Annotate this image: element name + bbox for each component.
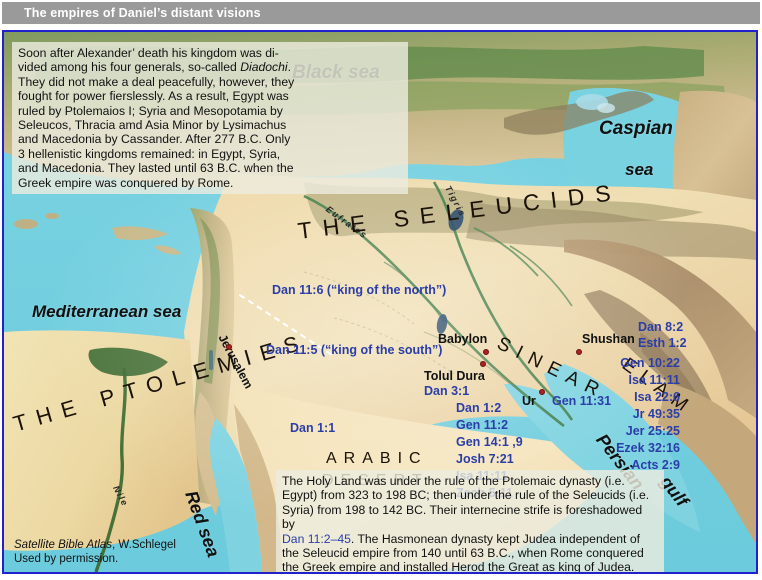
bottom-textbox-line-1: Egypt) from 323 to 198 BC; then under th… — [282, 488, 658, 502]
sea-label-mediterranean: Mediterranean sea — [32, 302, 181, 322]
place-dot-shushan — [576, 349, 582, 355]
verse-ezek-32-16: Ezek 32:16 — [616, 441, 680, 455]
place-label-ur: Ur — [522, 394, 536, 408]
top-textbox-line-4: ruled by Ptolemaios I; Syria and Mesopot… — [18, 104, 402, 118]
place-dot-babylon — [483, 349, 489, 355]
top-textbox-line-2: They did not make a deal peacefully, how… — [18, 75, 402, 89]
credit-author: , W.Schlegel — [112, 539, 176, 551]
top-textbox-line-8: and Macedonia. They lasted until 63 B.C.… — [18, 161, 402, 175]
region-label-arabic: ARABIC — [326, 450, 428, 468]
sea-label-caspian-line2: sea — [625, 160, 653, 180]
top-textbox-line-6: and Macedonia by Cassander. After 277 B.… — [18, 132, 402, 146]
verse-jer-25-25: Jer 25:25 — [626, 424, 680, 438]
credit-source: Satellite Bible Atlas — [14, 539, 112, 551]
credit-permission: Used by permission. — [14, 552, 176, 566]
place-dot-jerusalem — [226, 344, 232, 350]
bottom-textbox-line-0: The Holy Land was under the rule of the … — [282, 474, 658, 488]
verse-gen-11-2: Gen 11:2 — [456, 418, 508, 432]
top-textbox-line-9: Greek empire was conquered by Rome. — [18, 176, 402, 190]
place-label-shushan: Shushan — [582, 332, 635, 346]
verse-gen-14-1-9: Gen 14:1 ,9 — [456, 435, 523, 449]
diadochi-italic: Diadochi — [240, 60, 287, 74]
map-frame: Black sea Caspian sea Mediterranean sea … — [2, 30, 758, 574]
page-title: The empires of Daniel’s distant visions — [24, 6, 261, 20]
verse-dan-3-1: Dan 3:1 — [424, 384, 469, 398]
verse-dan-8-2: Dan 8:2 — [638, 320, 683, 334]
verse-dan-11-5: Dan 11:5 (“king of the south”) — [266, 343, 442, 357]
top-textbox-line-7: 3 hellenistic kingdoms remained: in Egyp… — [18, 147, 402, 161]
top-textbox-line-0: Soon after Alexander’ death his kingdom … — [18, 46, 402, 60]
verse-jr-49-35: Jr 49:35 — [633, 407, 680, 421]
page-title-bar: The empires of Daniel’s distant visions — [2, 2, 760, 24]
verse-isa-11-11-elam: Isa 11:11 — [629, 373, 680, 387]
top-textbox-line-1: vided among his four generals, so-called… — [18, 60, 402, 74]
verse-dan-11-2-45-inline: Dan 11:2–45 — [282, 532, 351, 546]
verse-dan-11-6: Dan 11:6 (“king of the north”) — [272, 283, 446, 297]
place-dot-ur — [539, 389, 545, 395]
info-textbox-top: Soon after Alexander’ death his kingdom … — [12, 42, 408, 194]
bottom-textbox-line-4: the Seleucid empire from 140 until 63 B.… — [282, 546, 658, 560]
verse-esth-1-2: Esth 1:2 — [638, 336, 687, 350]
verse-dan-1-2: Dan 1:2 — [456, 401, 501, 415]
map-canvas: Black sea Caspian sea Mediterranean sea … — [4, 32, 756, 572]
sea-label-caspian-line1: Caspian — [599, 118, 673, 140]
verse-gen-10-22: Gen 10:22 — [620, 356, 680, 370]
top-textbox-line-3: fought for power fierslessly. As a resul… — [18, 89, 402, 103]
bottom-textbox-line-3: Dan 11:2–45. The Hasmonean dynasty kept … — [282, 532, 658, 546]
bottom-textbox-line-2: Syria) from 198 to 142 BC. Their interne… — [282, 503, 658, 532]
credit-source-line: Satellite Bible Atlas, W.Schlegel — [14, 538, 176, 552]
place-label-tolul-dura: Tolul Dura — [424, 369, 485, 383]
map-credit: Satellite Bible Atlas, W.Schlegel Used b… — [14, 538, 176, 566]
verse-gen-11-31: Gen 11:31 — [552, 394, 611, 408]
place-dot-tolul-dura — [480, 361, 486, 367]
verse-josh-7-21: Josh 7:21 — [456, 452, 514, 466]
top-textbox-line-5: Seleucos, Thracia amd Asia Minor by Lysi… — [18, 118, 402, 132]
info-textbox-bottom: The Holy Land was under the rule of the … — [276, 470, 664, 572]
verse-isa-22-6: Isa 22:6 — [634, 390, 680, 404]
verse-dan-1-1: Dan 1:1 — [290, 421, 335, 435]
bottom-textbox-line-5: the Greek empire and installed Herod the… — [282, 560, 658, 572]
place-label-babylon: Babylon — [438, 332, 487, 346]
